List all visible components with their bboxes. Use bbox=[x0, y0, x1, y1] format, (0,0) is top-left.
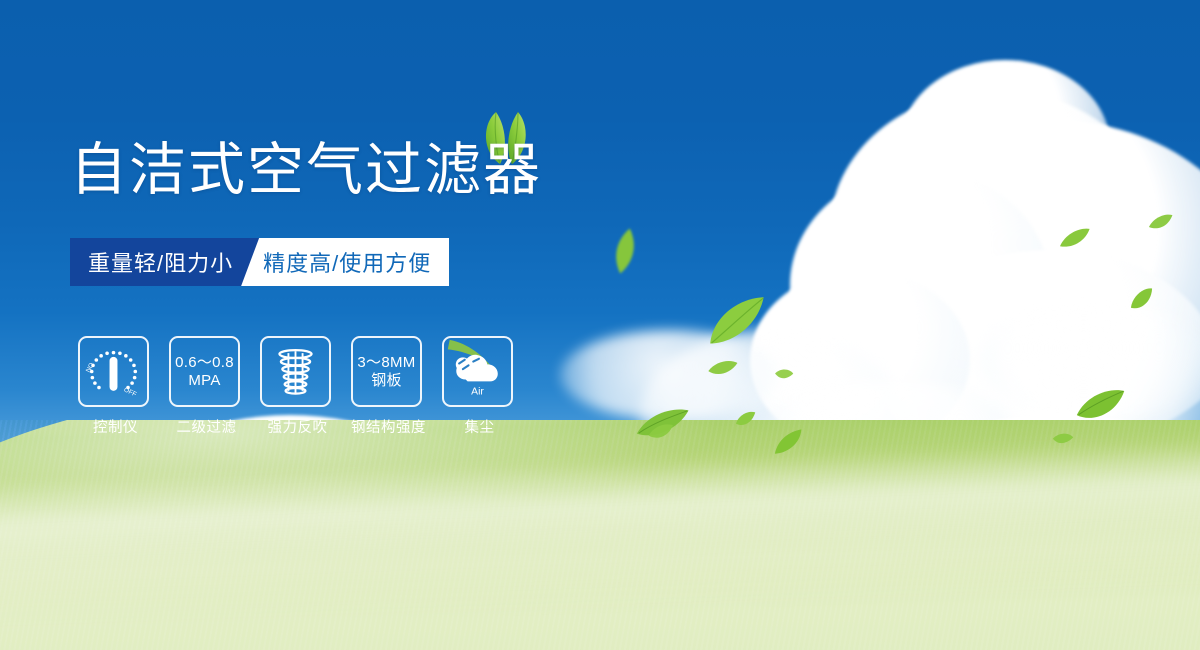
steel-plate-label: 钢板 bbox=[357, 372, 415, 389]
air-label: Air bbox=[471, 387, 484, 398]
feature-item[interactable]: 0.6〜0.8 MPA 二级过滤 bbox=[169, 336, 244, 437]
air-cloud-icon: Air bbox=[442, 336, 513, 407]
steel-thickness-text-icon: 3〜8MM 钢板 bbox=[351, 336, 422, 407]
subtitle-bar: 重量轻/阻力小 精度高/使用方便 bbox=[70, 238, 449, 286]
pressure-text-icon: 0.6〜0.8 MPA bbox=[169, 336, 240, 407]
product-banner: 自洁式空气过滤器 重量轻/阻力小 精度高/使用方便 bbox=[0, 0, 1200, 650]
feature-label: 集尘 bbox=[442, 416, 517, 437]
feature-list: NO OFF 控制仪 0.6〜0.8 MPA 二级过滤 bbox=[78, 336, 517, 437]
grass-field bbox=[0, 420, 1200, 650]
feature-item[interactable]: NO OFF 控制仪 bbox=[78, 336, 153, 437]
page-title: 自洁式空气过滤器 bbox=[70, 142, 542, 199]
feature-label: 强力反吹 bbox=[260, 416, 335, 437]
feature-label: 控制仪 bbox=[78, 416, 153, 437]
feature-item[interactable]: 3〜8MM 钢板 钢结构强度 bbox=[351, 336, 426, 437]
subtitle-right: 精度高/使用方便 bbox=[241, 238, 449, 286]
gauge-dial-icon: NO OFF bbox=[78, 336, 149, 407]
svg-text:NO: NO bbox=[85, 362, 96, 374]
floating-leaf bbox=[1052, 431, 1074, 447]
svg-text:OFF: OFF bbox=[123, 386, 138, 398]
feature-label: 二级过滤 bbox=[169, 416, 244, 437]
coil-airflow-icon bbox=[260, 336, 331, 407]
steel-thickness-value: 3〜8MM bbox=[357, 354, 415, 371]
feature-label: 钢结构强度 bbox=[351, 416, 426, 437]
pressure-value: 0.6〜0.8 bbox=[175, 354, 234, 371]
feature-item[interactable]: Air 集尘 bbox=[442, 336, 517, 437]
subtitle-left: 重量轻/阻力小 bbox=[70, 238, 259, 286]
pressure-unit: MPA bbox=[175, 372, 234, 389]
feature-item[interactable]: 强力反吹 bbox=[260, 336, 335, 437]
